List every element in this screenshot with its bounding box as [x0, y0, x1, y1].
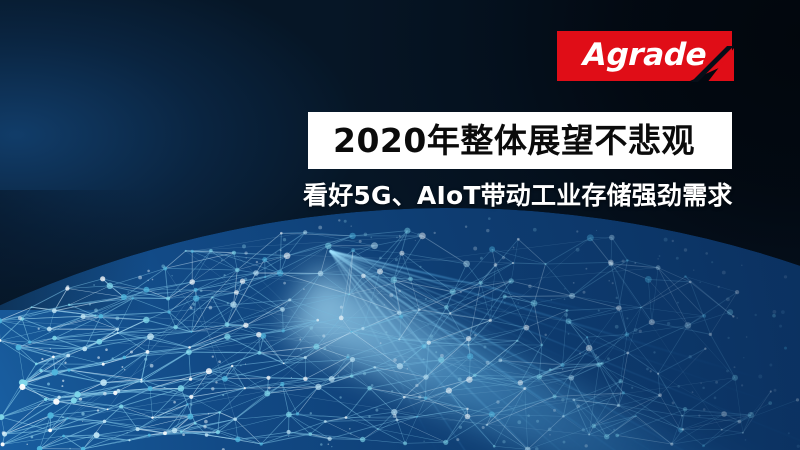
- presentation-slide: Agrade 2020年整体展望不悲观 看好5G、AIoT带动工业存储强劲需求: [0, 0, 800, 450]
- agrade-logo-text: Agrade: [582, 40, 706, 71]
- page-subtitle: 看好5G、AIoT带动工业存储强劲需求: [303, 182, 743, 211]
- title-banner: 2020年整体展望不悲观: [308, 112, 732, 169]
- agrade-logo[interactable]: Agrade: [557, 31, 732, 81]
- page-title: 2020年整体展望不悲观: [333, 124, 695, 157]
